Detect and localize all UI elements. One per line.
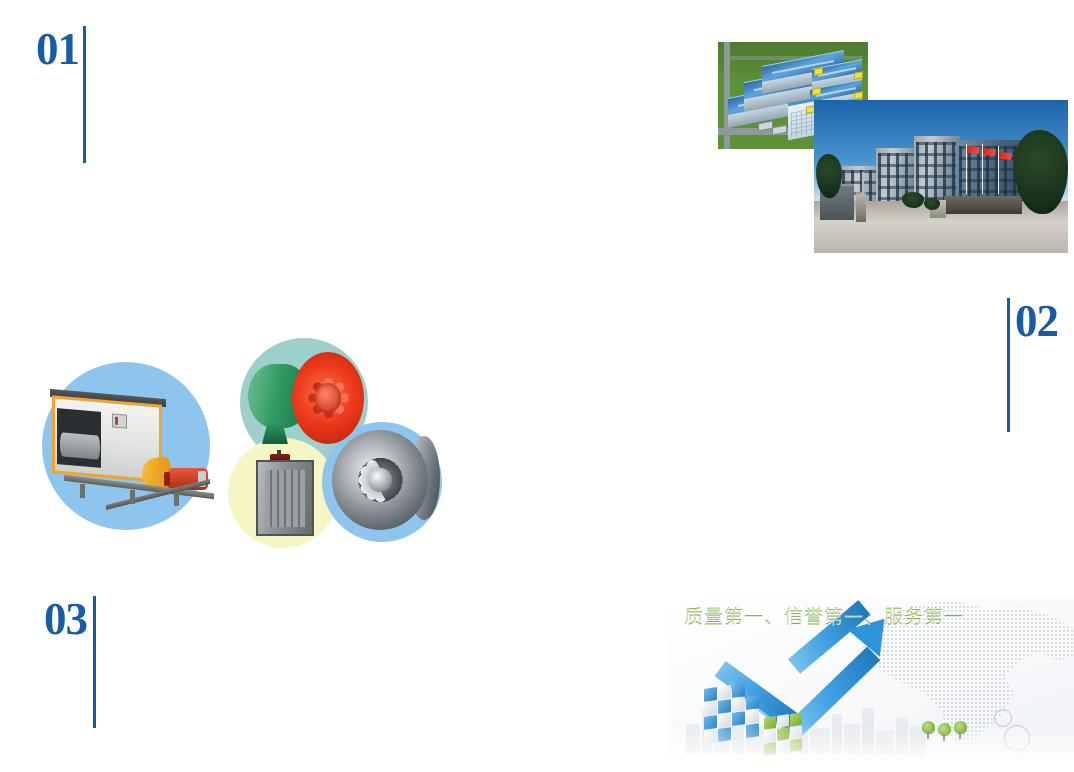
section-rule-02 [1007, 298, 1010, 432]
product-air-volume-damper [252, 454, 318, 540]
banner-slogan-text: 质量第一、信誉第一、服务第一 [684, 605, 964, 631]
section-number-03: 03 [44, 596, 87, 642]
product-cabinet-centrifugal-fan [46, 392, 226, 517]
section-rule-03 [93, 596, 96, 728]
section-rule-01 [83, 26, 86, 163]
section-marker-01: 01 [36, 26, 86, 163]
section-number-02: 02 [1015, 298, 1058, 344]
decorative-ring [994, 709, 1012, 727]
product-metal-impeller [328, 428, 440, 534]
growth-arrow-banner: 质量第一、信誉第一、服务第一 [668, 597, 1074, 772]
section-marker-03: 03 [44, 596, 96, 728]
office-building-photo-image [814, 100, 1068, 253]
section-number-01: 01 [36, 26, 79, 72]
product-image-cluster [32, 330, 432, 560]
section-marker-02: 02 [1007, 298, 1058, 432]
page-canvas: 01 02 03 [0, 0, 1074, 772]
